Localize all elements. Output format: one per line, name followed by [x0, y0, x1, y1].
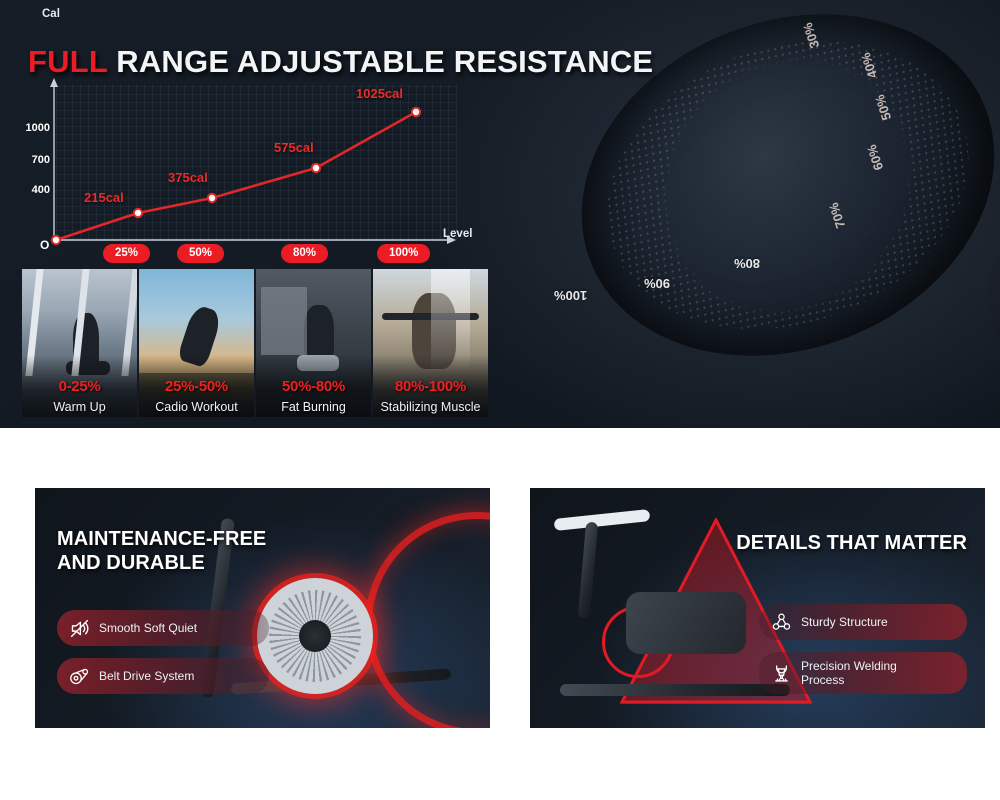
- bike-flywheel: [257, 578, 373, 694]
- panel-title-maintenance: MAINTENANCE-FREE AND DURABLE: [57, 527, 266, 576]
- training-zone-strip: 0-25% Warm Up 25%-50% Cadio Workout 50%-…: [22, 269, 488, 417]
- feature-pill-belt-drive-system[interactable]: Belt Drive System: [57, 658, 269, 694]
- bike-rear-wheel: [365, 512, 490, 728]
- point-label-1025: 1025cal: [356, 86, 403, 101]
- feature-pill-smooth-soft-quiet[interactable]: Smooth Soft Quiet: [57, 610, 269, 646]
- x-pill-80: 80%: [281, 244, 328, 263]
- zone-range-cardio: 25%-50%: [139, 378, 254, 395]
- panel-maintenance-free: MAINTENANCE-FREE AND DURABLE Smooth Soft…: [35, 488, 490, 728]
- dial-segment-100: 100%: [554, 288, 587, 303]
- dial-segment-90: 90%: [644, 276, 670, 291]
- zone-name-cardio: Cadio Workout: [139, 400, 254, 414]
- chart-svg: [16, 78, 486, 263]
- title-accent: FULL: [28, 44, 107, 79]
- molecule-node-icon: [771, 612, 792, 633]
- hero-section: FULL RANGE ADJUSTABLE RESISTANCE: [0, 0, 1000, 428]
- y-tick-1000: 1000: [12, 122, 50, 134]
- zone-range-stabilizing-muscle: 80%-100%: [373, 378, 488, 395]
- zone-card-warm-up: 0-25% Warm Up: [22, 269, 137, 417]
- x-pill-25: 25%: [103, 244, 150, 263]
- panel-title-details: DETAILS THAT MATTER: [736, 531, 967, 555]
- feature-label-sturdy-structure: Sturdy Structure: [801, 615, 888, 629]
- zone-range-fat-burning: 50%-80%: [256, 378, 371, 395]
- feature-label-smooth-soft-quiet: Smooth Soft Quiet: [99, 621, 197, 635]
- sound-off-icon: [69, 618, 90, 639]
- y-axis-label: Cal: [42, 8, 60, 20]
- welding-torch-icon: [771, 663, 792, 684]
- x-axis-label: Level: [443, 228, 472, 240]
- belt-drive-icon: [69, 666, 90, 687]
- product-feature-page: FULL RANGE ADJUSTABLE RESISTANCE: [0, 0, 1000, 800]
- point-label-215: 215cal: [84, 190, 124, 205]
- zone-name-stabilizing-muscle: Stabilizing Muscle: [373, 400, 488, 414]
- y-tick-700: 700: [12, 154, 50, 166]
- resistance-dial: [565, 0, 1000, 394]
- zone-name-fat-burning: Fat Burning: [256, 400, 371, 414]
- zone-card-stabilizing-muscle: 80%-100% Stabilizing Muscle: [373, 269, 488, 417]
- origin-label: O: [40, 238, 49, 252]
- zone-card-cardio: 25%-50% Cadio Workout: [139, 269, 254, 417]
- point-label-575: 575cal: [274, 140, 314, 155]
- zone-range-warm-up: 0-25%: [22, 378, 137, 395]
- y-tick-400: 400: [12, 184, 50, 196]
- chart-gridlines: [54, 84, 458, 240]
- feature-label-precision-welding-process: Precision Welding Process: [801, 659, 897, 687]
- dial-segment-80: 80%: [734, 256, 760, 271]
- calorie-level-chart: Cal Level O 400 700 1000 215cal 375cal 5…: [16, 78, 486, 263]
- resistance-knob-artwork: 100% 90% 80% 70% 60% 50% 40% 30% PUSH TO…: [498, 0, 1000, 428]
- feature-pill-precision-welding-process[interactable]: Precision Welding Process: [759, 652, 967, 694]
- feature-pill-sturdy-structure[interactable]: Sturdy Structure: [759, 604, 967, 640]
- point-label-375: 375cal: [168, 170, 208, 185]
- x-pill-100: 100%: [377, 244, 430, 263]
- feature-label-belt-drive-system: Belt Drive System: [99, 669, 194, 683]
- zone-name-warm-up: Warm Up: [22, 400, 137, 414]
- panel-details-that-matter: DETAILS THAT MATTER Sturdy Structure: [530, 488, 985, 728]
- x-pill-50: 50%: [177, 244, 224, 263]
- zone-card-fat-burning: 50%-80% Fat Burning: [256, 269, 371, 417]
- y-axis-arrow: [50, 78, 58, 87]
